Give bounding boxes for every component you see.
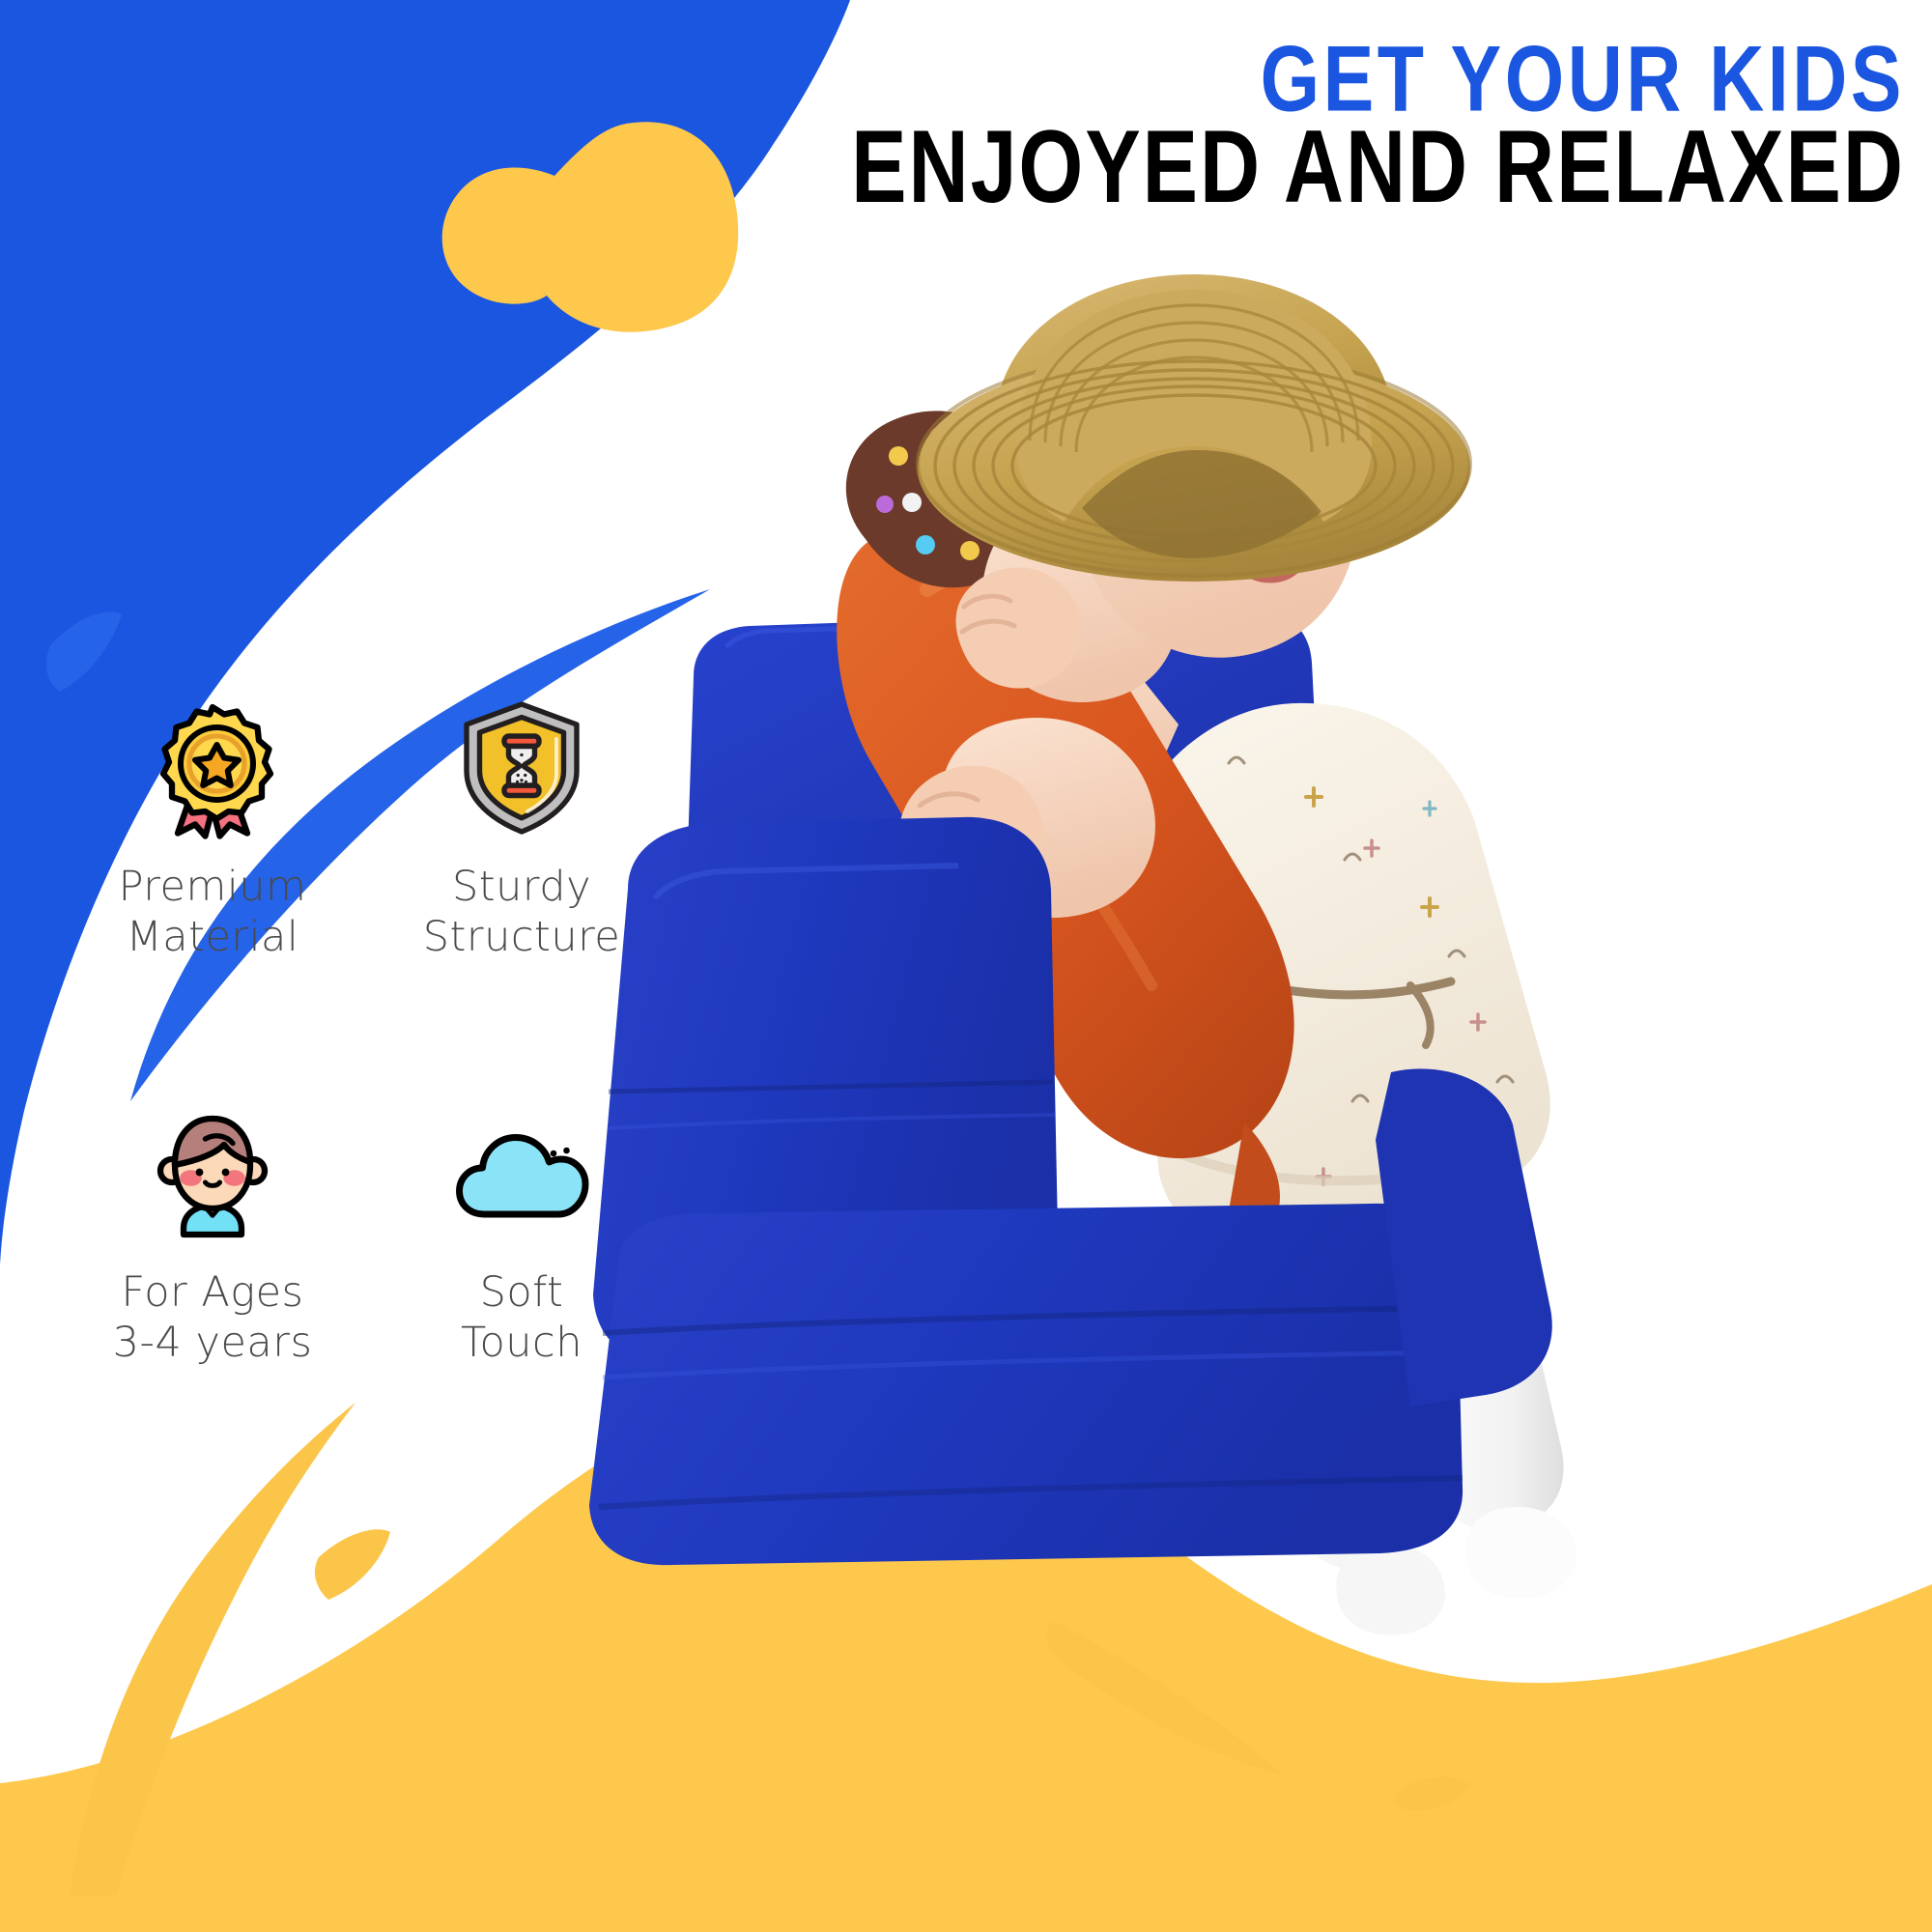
yellow-arc-accent bbox=[70, 1403, 355, 1895]
chair-seat-base bbox=[589, 1204, 1463, 1565]
yellow-bean-tail bbox=[442, 168, 554, 304]
child-face-icon bbox=[140, 1101, 285, 1246]
yellow-leaf-accent bbox=[315, 1529, 390, 1600]
award-medal-icon bbox=[140, 696, 285, 840]
feature-label-premium-material: Premium Material bbox=[119, 862, 307, 963]
feature-label-soft-touch: Soft Touch bbox=[461, 1267, 582, 1369]
product-photo bbox=[580, 222, 1932, 1729]
cloud-icon bbox=[449, 1101, 594, 1246]
feature-label-age-range: For Ages 3-4 years bbox=[113, 1267, 313, 1369]
promo-banner: GET YOUR KIDS ENJOYED AND RELAXED bbox=[0, 0, 1932, 1932]
yellow-dot-accent bbox=[1395, 1776, 1472, 1810]
blue-teardrop-accent bbox=[46, 612, 122, 692]
headline-line-2: ENJOYED AND RELAXED bbox=[851, 118, 1905, 216]
feature-list: Premium Material bbox=[68, 696, 667, 1343]
straw-hat bbox=[918, 274, 1470, 582]
feature-age-range: For Ages 3-4 years bbox=[68, 1101, 357, 1343]
feature-premium-material: Premium Material bbox=[68, 696, 357, 937]
shield-hourglass-icon bbox=[449, 696, 594, 840]
headline: GET YOUR KIDS ENJOYED AND RELAXED bbox=[851, 50, 1905, 216]
